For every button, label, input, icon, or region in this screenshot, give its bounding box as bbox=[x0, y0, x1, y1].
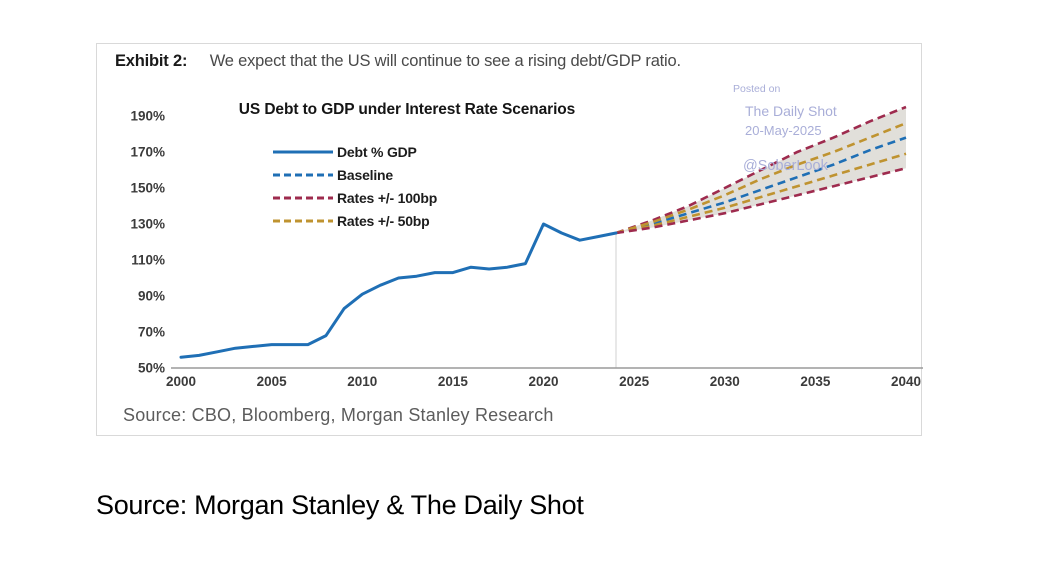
legend-item: Baseline bbox=[271, 163, 501, 186]
x-axis-tick-label: 2015 bbox=[438, 374, 468, 389]
x-axis: 200020052010201520202025203020352040 bbox=[97, 68, 923, 408]
x-axis-tick-label: 2025 bbox=[619, 374, 649, 389]
legend-item: Rates +/- 100bp bbox=[271, 186, 501, 209]
legend-item: Debt % GDP bbox=[271, 140, 501, 163]
x-axis-tick-label: 2010 bbox=[347, 374, 377, 389]
x-axis-tick-label: 2030 bbox=[710, 374, 740, 389]
legend-label: Rates +/- 50bp bbox=[337, 213, 430, 229]
chart-plot-region: US Debt to GDP under Interest Rate Scena… bbox=[97, 68, 923, 408]
chart-source-note: Source: CBO, Bloomberg, Morgan Stanley R… bbox=[123, 405, 554, 426]
x-axis-tick-label: 2020 bbox=[528, 374, 558, 389]
x-axis-tick-label: 2005 bbox=[257, 374, 287, 389]
x-axis-tick-label: 2000 bbox=[166, 374, 196, 389]
legend-swatch-icon bbox=[271, 146, 335, 158]
legend-label: Rates +/- 100bp bbox=[337, 190, 437, 206]
legend-swatch-icon bbox=[271, 192, 335, 204]
x-axis-tick-label: 2040 bbox=[891, 374, 921, 389]
legend-swatch-icon bbox=[271, 215, 335, 227]
x-axis-tick-label: 2035 bbox=[800, 374, 830, 389]
legend-label: Debt % GDP bbox=[337, 144, 417, 160]
page-source-caption: Source: Morgan Stanley & The Daily Shot bbox=[96, 490, 584, 521]
chart-legend: Debt % GDPBaselineRates +/- 100bpRates +… bbox=[271, 140, 501, 232]
legend-item: Rates +/- 50bp bbox=[271, 209, 501, 232]
exhibit-card: Exhibit 2: We expect that the US will co… bbox=[96, 43, 922, 436]
legend-swatch-icon bbox=[271, 169, 335, 181]
legend-label: Baseline bbox=[337, 167, 393, 183]
